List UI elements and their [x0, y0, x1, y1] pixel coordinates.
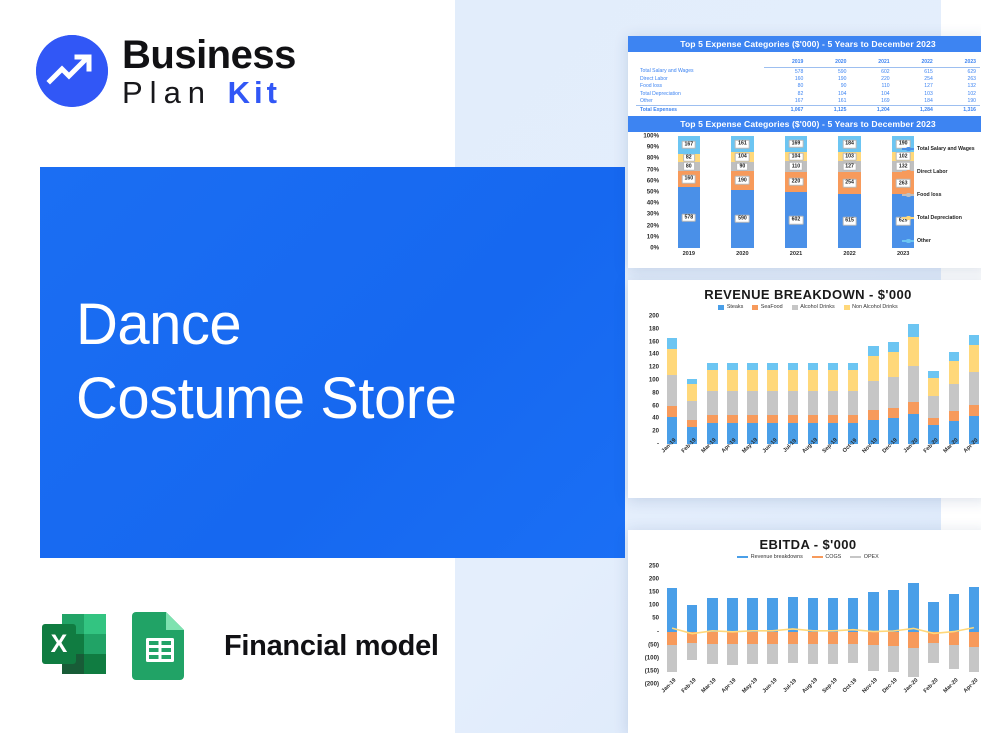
- bar-segment: [747, 415, 757, 423]
- bar-segment: [767, 363, 777, 371]
- table-cell: 127: [894, 83, 937, 90]
- bar-segment: [667, 349, 677, 375]
- y-tick: 120: [649, 364, 659, 371]
- bar-segment: [687, 632, 697, 644]
- bar-value-label: 90: [737, 162, 749, 171]
- stacked-bar: 59019090104161: [731, 136, 754, 248]
- legend-swatch: [752, 305, 758, 310]
- y-tick: 90%: [647, 144, 659, 151]
- bar-segment: [788, 597, 798, 631]
- bar-column: [843, 562, 863, 688]
- bar-segment: [828, 363, 838, 371]
- bar-segment: 110: [785, 161, 808, 171]
- bar-segment: [848, 370, 858, 390]
- x-tick: 2021: [769, 251, 823, 257]
- table-cell: 169: [850, 98, 893, 106]
- bar-segment: [727, 391, 737, 415]
- bar-column: [944, 562, 964, 688]
- bar-segment: 184: [838, 136, 861, 152]
- bar-segment: [667, 632, 677, 646]
- stacked-bar: [747, 363, 757, 444]
- y-tick: 40: [652, 415, 659, 422]
- logo-plan-text: Plan: [122, 75, 228, 110]
- table-col-header: 2019: [764, 58, 807, 68]
- table-cell: 1,067: [764, 105, 807, 114]
- logo-kit-text: Kit: [228, 75, 281, 110]
- legend-item: Total Depreciation: [902, 207, 981, 230]
- x-tick: 2020: [716, 251, 770, 257]
- bar-segment: [767, 644, 777, 664]
- bar-column: [904, 316, 924, 444]
- table-cell: 578: [764, 68, 807, 76]
- svg-text:X: X: [51, 630, 68, 658]
- bar-value-label: 104: [735, 153, 750, 162]
- row-label: Direct Labor: [636, 75, 764, 82]
- bar-segment: 220: [785, 172, 808, 192]
- bar-segment: [949, 632, 959, 646]
- y-tick: 70%: [647, 166, 659, 173]
- table-cell: 104: [850, 90, 893, 97]
- bar-column: 615254127103184: [823, 136, 877, 248]
- financial-model-label: Financial model: [224, 630, 439, 663]
- bar-segment: [868, 632, 878, 646]
- bar-column: [783, 316, 803, 444]
- table-cell: 1,125: [807, 105, 850, 114]
- bar-segment: [808, 363, 818, 371]
- legend-item: OPEX: [850, 554, 878, 560]
- bar-value-label: 220: [789, 177, 804, 186]
- bar-segment: [928, 643, 938, 663]
- y-tick: 200: [649, 313, 659, 320]
- bar-segment: [828, 391, 838, 415]
- stacked-bar: [928, 371, 938, 444]
- y-tick: 50%: [647, 188, 659, 195]
- bar-segment: [848, 391, 858, 415]
- bar-column: [743, 562, 763, 688]
- bar-segment: [949, 645, 959, 669]
- bar-segment: [808, 598, 818, 631]
- table-cell: 1,316: [937, 105, 980, 114]
- stacked-bar: 602220110104169: [785, 136, 808, 248]
- legend-item: Total Salary and Wages: [902, 138, 981, 161]
- legend-label: SeaFood: [761, 304, 783, 310]
- y-tick: 0%: [650, 244, 659, 251]
- row-label: Total Salary and Wages: [636, 68, 764, 76]
- legend-swatch: [902, 148, 914, 150]
- bar-column: [843, 316, 863, 444]
- stacked-bar: [727, 363, 737, 444]
- y-tick: 40%: [647, 200, 659, 207]
- bar-segment: [868, 381, 878, 410]
- bar-segment: [908, 648, 918, 678]
- revenue-chart-title: REVENUE BREAKDOWN - $'000: [628, 280, 981, 304]
- ebitda-chart-title: EBITDA - $'000: [628, 530, 981, 554]
- bar-segment: [888, 377, 898, 408]
- legend-item: Steaks: [718, 304, 743, 310]
- bar-segment: [727, 363, 737, 371]
- stacked-bar: [667, 338, 677, 444]
- bar-segment: [788, 363, 798, 371]
- table-cell: 184: [894, 98, 937, 106]
- bar-segment: [667, 406, 677, 417]
- bar-column: [803, 316, 823, 444]
- bar-segment: [667, 338, 677, 349]
- bar-column: [924, 562, 944, 688]
- bar-segment: [747, 363, 757, 371]
- bar-segment: 103: [838, 152, 861, 161]
- bar-column: [823, 562, 843, 688]
- y-tick: 50: [652, 615, 659, 622]
- revenue-legend: SteaksSeaFoodAlcohol DrinksNon Alcohol D…: [628, 304, 981, 312]
- bar-segment: 590: [731, 190, 754, 248]
- legend-swatch: [902, 171, 914, 173]
- bar-segment: [949, 594, 959, 631]
- bar-segment: [727, 644, 737, 665]
- bar-segment: [888, 632, 898, 646]
- bar-segment: [868, 592, 878, 632]
- table-cell: 602: [850, 68, 893, 76]
- bar-segment: [949, 411, 959, 421]
- bar-column: [803, 562, 823, 688]
- bar-segment: [707, 370, 717, 390]
- bar-segment: [969, 587, 979, 632]
- bar-value-label: 103: [842, 152, 857, 161]
- y-tick: 250: [649, 563, 659, 570]
- legend-label: Alcohol Drinks: [800, 304, 834, 310]
- legend-label: OPEX: [864, 554, 879, 560]
- table-cell: 1,284: [894, 105, 937, 114]
- table-cell: 132: [937, 83, 980, 90]
- bar-segment: [888, 408, 898, 418]
- bar-segment: [687, 420, 697, 427]
- y-tick: (50): [648, 641, 659, 648]
- table-cell: 102: [937, 90, 980, 97]
- y-tick: 200: [649, 576, 659, 583]
- bar-segment: [908, 337, 918, 366]
- bar-column: [682, 562, 702, 688]
- bar-segment: [788, 370, 798, 390]
- expense-table: 20192020202120222023Total Salary and Wag…: [628, 52, 981, 116]
- table-cell: 615: [894, 68, 937, 76]
- bar-segment: [707, 363, 717, 371]
- excel-icon: X: [38, 608, 110, 685]
- bar-column: [944, 316, 964, 444]
- bar-segment: [848, 644, 858, 663]
- bar-segment: [828, 644, 838, 664]
- bar-segment: [969, 345, 979, 372]
- table-corner: [636, 58, 764, 68]
- bar-segment: [747, 598, 757, 631]
- bar-segment: [888, 646, 898, 672]
- bar-segment: 90: [731, 162, 754, 171]
- bar-segment: [788, 632, 798, 645]
- bar-segment: [868, 645, 878, 671]
- bar-value-label: 184: [842, 140, 857, 149]
- bar-column: [964, 316, 981, 444]
- bar-segment: [687, 643, 697, 660]
- legend-label: Non Alcohol Drinks: [852, 304, 898, 310]
- bar-segment: [868, 346, 878, 356]
- bar-segment: [969, 647, 979, 673]
- revenue-breakdown-card: REVENUE BREAKDOWN - $'000 SteaksSeaFoodA…: [628, 280, 981, 498]
- bar-column: [662, 316, 682, 444]
- bar-segment: [908, 632, 918, 648]
- revenue-plot: 20018016014012010080604020-Jan-19Feb-19M…: [628, 312, 981, 474]
- y-axis: 20018016014012010080604020-: [628, 312, 662, 474]
- legend-item: COGS: [812, 554, 841, 560]
- bar-segment: 80: [678, 162, 701, 170]
- bar-segment: [969, 405, 979, 416]
- bar-column: [763, 316, 783, 444]
- ebitda-card: EBITDA - $'000 Revenue breakdownsCOGSOPE…: [628, 530, 981, 733]
- row-label: Food loss: [636, 83, 764, 90]
- page-title: Dance Costume Store: [76, 288, 456, 435]
- stacked-bar: 5781608082167: [678, 136, 701, 248]
- y-tick: 140: [649, 351, 659, 358]
- bar-segment: [788, 415, 798, 423]
- bar-segment: [949, 352, 959, 361]
- bar-value-label: 169: [789, 140, 804, 149]
- bar-segment: [747, 644, 757, 664]
- bar-segment: [707, 644, 717, 664]
- bar-segment: [707, 598, 717, 631]
- row-label: Total Depreciation: [636, 90, 764, 97]
- bar-segment: [928, 378, 938, 396]
- bar-segment: [848, 598, 858, 631]
- legend-label: Total Depreciation: [917, 215, 962, 221]
- bar-segment: [928, 602, 938, 632]
- bar-value-label: 190: [735, 176, 750, 185]
- legend-label: COGS: [825, 554, 841, 560]
- y-tick: (200): [645, 681, 659, 688]
- table-cell: 254: [894, 75, 937, 82]
- legend-label: Total Salary and Wages: [917, 146, 975, 152]
- bar-segment: [727, 370, 737, 390]
- logo-line-1: Business: [122, 35, 296, 75]
- table-cell: 161: [807, 98, 850, 106]
- table-cell: 190: [807, 75, 850, 82]
- bar-segment: [808, 644, 818, 664]
- bar-column: [763, 562, 783, 688]
- bar-column: [904, 562, 924, 688]
- table-row: Food loss8090110127132: [636, 83, 980, 90]
- table-row: Direct Labor160190220254263: [636, 75, 980, 82]
- table-cell: 167: [764, 98, 807, 106]
- legend-swatch: [902, 217, 914, 219]
- legend-item: Other: [902, 230, 981, 253]
- bar-segment: [888, 590, 898, 631]
- legend-item: Direct Labor: [902, 161, 981, 184]
- bar-segment: 167: [678, 136, 701, 154]
- ebitda-plot: 25020015010050-(50)(100)(150)(200)Jan-19…: [628, 562, 981, 714]
- table-row: Other167161169184190: [636, 98, 980, 106]
- bar-segment: 104: [785, 152, 808, 162]
- y-tick: 20: [652, 428, 659, 435]
- bar-segment: [747, 632, 757, 645]
- bar-segment: [687, 605, 697, 631]
- stacked-bar: [687, 379, 697, 444]
- bar-column: [924, 316, 944, 444]
- y-tick: 20%: [647, 222, 659, 229]
- y-tick: 60: [652, 402, 659, 409]
- bar-segment: [767, 632, 777, 645]
- bar-segment: [707, 415, 717, 423]
- legend-label: Food loss: [917, 192, 942, 198]
- bar-segment: [888, 342, 898, 352]
- table-cell: 104: [807, 90, 850, 97]
- bar-segment: [667, 645, 677, 671]
- bar-segment: [788, 644, 798, 663]
- legend-swatch: [844, 305, 850, 310]
- bar-segment: 160: [678, 171, 701, 188]
- x-tick: 2019: [662, 251, 716, 257]
- ebitda-legend: Revenue breakdownsCOGSOPEX: [628, 554, 981, 562]
- bar-segment: 578: [678, 187, 701, 248]
- bar-segment: [868, 356, 878, 380]
- y-axis: 25020015010050-(50)(100)(150)(200): [628, 562, 662, 714]
- bar-value-label: 161: [735, 140, 750, 149]
- legend-item: Non Alcohol Drinks: [844, 304, 898, 310]
- bar-column: [883, 562, 903, 688]
- bar-column: [964, 562, 981, 688]
- bar-segment: [928, 371, 938, 378]
- legend-item: Revenue breakdowns: [737, 554, 803, 560]
- y-tick: 160: [649, 338, 659, 345]
- legend-label: Revenue breakdowns: [751, 554, 803, 560]
- row-label: Total Expenses: [636, 105, 764, 114]
- bar-segment: [928, 418, 938, 426]
- bar-column: [722, 316, 742, 444]
- page-title-line-1: Dance: [76, 288, 456, 362]
- bar-value-label: 160: [681, 175, 696, 184]
- bar-segment: [707, 632, 717, 645]
- bar-segment: [808, 415, 818, 423]
- expense-table-title: Top 5 Expense Categories ($'000) - 5 Yea…: [628, 36, 981, 52]
- bar-value-label: 80: [683, 162, 695, 171]
- bar-segment: 169: [785, 136, 808, 152]
- table-col-header: 2020: [807, 58, 850, 68]
- y-tick: 30%: [647, 211, 659, 218]
- bar-segment: [828, 632, 838, 645]
- table-cell: 90: [807, 83, 850, 90]
- bar-segment: [868, 410, 878, 420]
- bar-column: [883, 316, 903, 444]
- bar-segment: [888, 352, 898, 378]
- bar-value-label: 110: [789, 162, 803, 171]
- bar-column: [702, 316, 722, 444]
- bar-group: [662, 316, 981, 444]
- bar-segment: 127: [838, 161, 861, 172]
- bar-column: [863, 316, 883, 444]
- legend-swatch: [812, 556, 823, 559]
- y-tick: 100%: [643, 132, 659, 139]
- bar-segment: [928, 632, 938, 644]
- table-row: Total Salary and Wages578590602615629: [636, 68, 980, 76]
- bar-column: [863, 562, 883, 688]
- x-axis: 20192020202120222023: [662, 251, 930, 257]
- brand-logo: Business Plan Kit: [36, 33, 296, 108]
- table-cell: 160: [764, 75, 807, 82]
- stacked-bar: [767, 363, 777, 444]
- bar-segment: 615: [838, 194, 861, 248]
- bar-segment: [969, 372, 979, 405]
- stacked-bar: [868, 346, 878, 444]
- page-title-line-2: Costume Store: [76, 362, 456, 436]
- legend-item: Food loss: [902, 184, 981, 207]
- legend-item: Alcohol Drinks: [792, 304, 835, 310]
- bar-column: [702, 562, 722, 688]
- table-cell: 263: [937, 75, 980, 82]
- legend-swatch: [792, 305, 798, 310]
- bar-segment: [848, 363, 858, 371]
- slide-canvas: Business Plan Kit Dance Costume Store X: [0, 0, 981, 733]
- bar-segment: 190: [731, 171, 754, 190]
- bar-segment: [788, 391, 798, 415]
- logo-line-2: Plan Kit: [122, 77, 296, 108]
- stacked-bar: [908, 324, 918, 444]
- bar-value-label: 167: [681, 140, 696, 149]
- y-tick: 100: [649, 377, 659, 384]
- bar-segment: [828, 598, 838, 631]
- row-label: Other: [636, 98, 764, 106]
- table-cell: 80: [764, 83, 807, 90]
- bar-value-label: 615: [842, 217, 857, 226]
- bar-value-label: 127: [842, 162, 857, 171]
- bar-segment: 602: [785, 192, 808, 248]
- bar-segment: [667, 588, 677, 632]
- bar-value-label: 602: [789, 216, 804, 225]
- y-tick: 60%: [647, 177, 659, 184]
- bar-segment: [908, 324, 918, 336]
- bar-segment: 104: [731, 152, 754, 162]
- stacked-bar: [788, 363, 798, 444]
- bar-segment: [808, 370, 818, 390]
- bar-group: 5781608082167590190901041616022201101041…: [662, 136, 930, 248]
- bar-value-label: 578: [681, 213, 696, 222]
- y-tick: 80: [652, 389, 659, 396]
- bar-column: [722, 562, 742, 688]
- bar-segment: [727, 598, 737, 631]
- legend-label: Steaks: [727, 304, 743, 310]
- bar-segment: [848, 632, 858, 645]
- y-tick: 80%: [647, 155, 659, 162]
- bar-segment: [767, 598, 777, 631]
- bar-segment: [908, 402, 918, 414]
- table-cell: 110: [850, 83, 893, 90]
- x-axis: Jan-19Feb-19Mar-19Apr-19May-19Jun-19Jul-…: [662, 450, 981, 456]
- legend-swatch: [718, 305, 724, 310]
- table-cell: 629: [937, 68, 980, 76]
- expense-stacked-chart: 100%90%80%70%60%50%40%30%20%10%0%5781608…: [628, 132, 981, 266]
- table-col-header: 2023: [937, 58, 980, 68]
- bar-segment: [747, 391, 757, 415]
- bar-column: [682, 316, 702, 444]
- legend-swatch: [902, 240, 914, 242]
- bar-segment: [949, 361, 959, 384]
- bar-column: [783, 562, 803, 688]
- bar-segment: [767, 391, 777, 415]
- legend-swatch: [850, 556, 861, 559]
- bar-segment: [969, 335, 979, 346]
- y-axis: 100%90%80%70%60%50%40%30%20%10%0%: [628, 132, 662, 266]
- bar-segment: [848, 415, 858, 423]
- table-row: Total Depreciation82104104103102: [636, 90, 980, 97]
- x-tick: 2022: [823, 251, 877, 257]
- stacked-bar: [828, 363, 838, 444]
- bar-segment: 161: [731, 136, 754, 152]
- y-tick: -: [657, 441, 659, 448]
- bar-group: [662, 562, 981, 688]
